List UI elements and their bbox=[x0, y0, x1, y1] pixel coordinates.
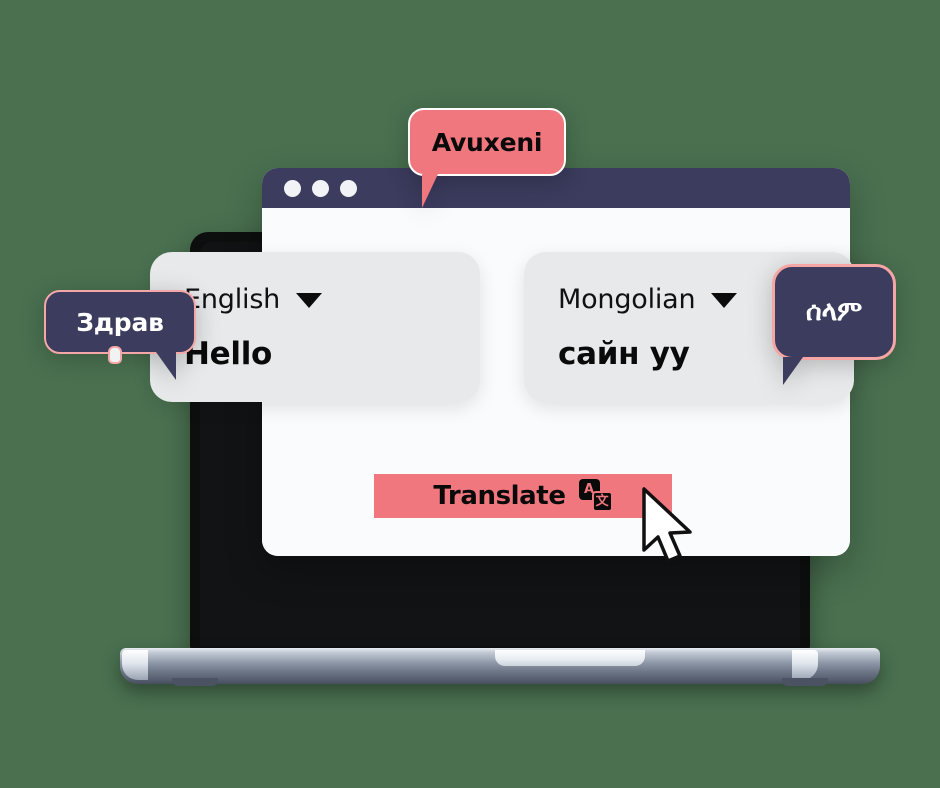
speech-bubble-tail bbox=[422, 174, 450, 208]
translate-icon-cjk: 文 bbox=[592, 491, 613, 512]
translate-button-label: Translate bbox=[433, 481, 565, 511]
laptop-foot-left bbox=[172, 678, 218, 686]
source-language-label: English bbox=[184, 284, 280, 315]
speech-bubble-avuxeni: Avuxeni bbox=[408, 108, 566, 176]
target-language-label: Mongolian bbox=[558, 284, 695, 315]
source-text[interactable]: Hello bbox=[184, 336, 446, 372]
speech-bubble-zdrav: Здрав bbox=[44, 290, 196, 354]
speech-bubble-zdrav-text: Здрав bbox=[76, 308, 164, 337]
traffic-light-close-icon[interactable] bbox=[284, 180, 301, 197]
traffic-light-maximize-icon[interactable] bbox=[340, 180, 357, 197]
speech-bubble-selam: ሰላም bbox=[772, 264, 896, 360]
speech-bubble-tail bbox=[783, 357, 811, 385]
speech-bubble-selam-text: ሰላም bbox=[806, 296, 862, 328]
chevron-down-icon[interactable] bbox=[296, 293, 322, 308]
speech-bubble-avuxeni-text: Avuxeni bbox=[432, 128, 543, 157]
laptop-base-cap-left bbox=[122, 650, 148, 680]
chevron-down-icon[interactable] bbox=[711, 293, 737, 308]
translate-button[interactable]: Translate A 文 bbox=[374, 474, 672, 518]
laptop-base-notch bbox=[495, 650, 645, 666]
scene: English Hello Mongolian сайн уу Translat… bbox=[0, 0, 940, 788]
source-language-selector[interactable]: English bbox=[184, 282, 446, 316]
laptop-foot-right bbox=[782, 678, 828, 686]
traffic-light-minimize-icon[interactable] bbox=[312, 180, 329, 197]
translate-icon: A 文 bbox=[579, 479, 613, 513]
source-language-card: English Hello bbox=[150, 252, 480, 402]
location-pin-icon bbox=[108, 346, 122, 364]
speech-bubble-tail bbox=[148, 352, 176, 380]
